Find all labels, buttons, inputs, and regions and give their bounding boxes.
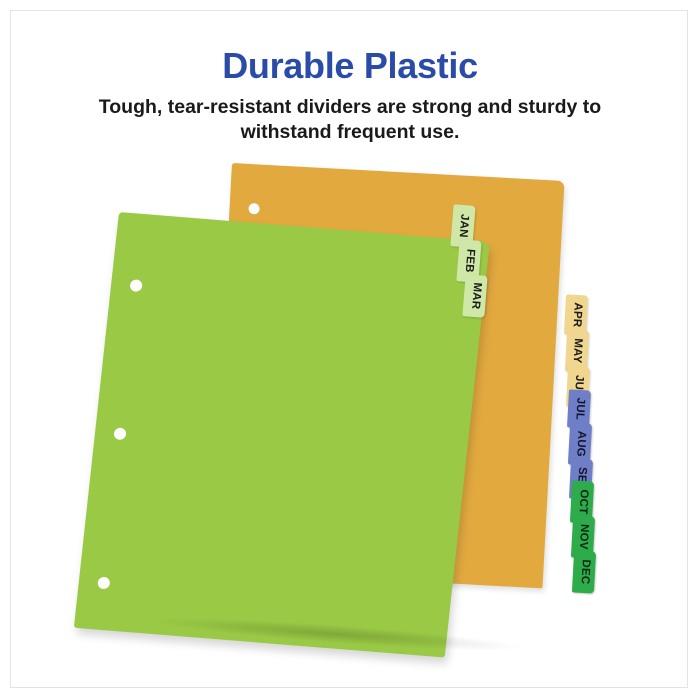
index-tab-label: JUL	[573, 398, 586, 421]
index-tab-label: FEB	[462, 249, 475, 273]
green-divider-sheet	[74, 212, 490, 658]
hole-punch	[130, 279, 143, 292]
index-tab-label: APR	[570, 302, 583, 327]
hole-punch	[113, 427, 126, 440]
index-tab-label: JAN	[456, 214, 469, 238]
index-tab-label: MAR	[468, 282, 482, 310]
index-tab-mar: MAR	[462, 274, 487, 318]
product-feature-image: Durable Plastic Tough, tear-resistant di…	[0, 0, 700, 700]
hole-punch	[97, 577, 110, 590]
product-photo: JANFEBMARAPRMAYJUNJULAUGSEPOCTNOVDEC	[0, 0, 700, 700]
index-tab-label: MAY	[571, 338, 584, 364]
hole-punch	[248, 203, 260, 215]
index-tab-dec: DEC	[572, 550, 596, 593]
index-tab-label: DEC	[578, 559, 591, 584]
index-tab-label: AUG	[574, 431, 587, 458]
index-tab-label: OCT	[576, 489, 589, 514]
index-tab-label: NOV	[577, 524, 590, 550]
